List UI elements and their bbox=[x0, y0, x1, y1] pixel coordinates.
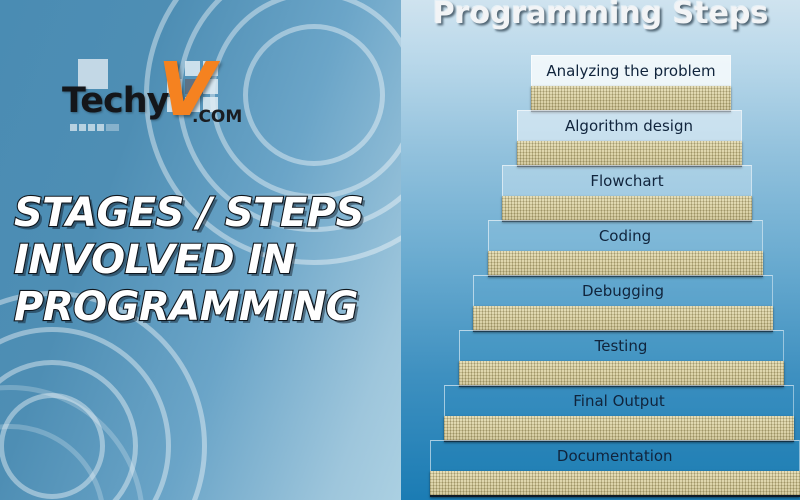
step-tread-7 bbox=[444, 416, 794, 442]
step-riser-6: Testing bbox=[459, 330, 784, 361]
step-tread-8 bbox=[430, 471, 800, 497]
step-riser-3: Flowchart bbox=[502, 165, 752, 196]
step-label-3: Flowchart bbox=[590, 172, 663, 190]
step-riser-1: Analyzing the problem bbox=[531, 55, 731, 86]
concentric-rings-icon-bottom-left-outer bbox=[0, 390, 140, 500]
logo-domain-suffix: .COM bbox=[192, 107, 242, 127]
logo-wordmark: Techy bbox=[62, 81, 168, 121]
step-label-8: Documentation bbox=[557, 447, 673, 465]
step-4[interactable]: Coding bbox=[488, 220, 763, 275]
step-riser-5: Debugging bbox=[473, 275, 773, 306]
step-riser-8: Documentation bbox=[430, 440, 800, 471]
dots-icon bbox=[70, 124, 119, 131]
page-title-line-3: PROGRAMMING bbox=[14, 284, 401, 331]
step-label-5: Debugging bbox=[582, 282, 664, 300]
step-label-7: Final Output bbox=[573, 392, 664, 410]
step-label-2: Algorithm design bbox=[565, 117, 693, 135]
step-riser-4: Coding bbox=[488, 220, 763, 251]
left-panel: Techy V .COM STAGES / STEPS INVOLVED IN … bbox=[0, 0, 401, 500]
step-tread-4 bbox=[488, 251, 763, 277]
poster-canvas: Techy V .COM STAGES / STEPS INVOLVED IN … bbox=[0, 0, 800, 500]
page-title-line-1: STAGES / STEPS bbox=[14, 190, 401, 237]
step-label-1: Analyzing the problem bbox=[546, 62, 715, 80]
step-1[interactable]: Analyzing the problem bbox=[531, 55, 731, 110]
techyv-logo[interactable]: Techy V .COM bbox=[62, 57, 237, 137]
step-tread-6 bbox=[459, 361, 784, 387]
step-8[interactable]: Documentation bbox=[430, 440, 800, 495]
step-label-4: Coding bbox=[599, 227, 651, 245]
step-2[interactable]: Algorithm design bbox=[517, 110, 742, 165]
page-title-line-2: INVOLVED IN bbox=[14, 237, 401, 284]
step-tread-3 bbox=[502, 196, 752, 222]
step-label-6: Testing bbox=[595, 337, 648, 355]
step-riser-7: Final Output bbox=[444, 385, 794, 416]
staircase-diagram: Analyzing the problemAlgorithm designFlo… bbox=[401, 0, 800, 500]
step-tread-5 bbox=[473, 306, 773, 332]
step-6[interactable]: Testing bbox=[459, 330, 784, 385]
step-riser-2: Algorithm design bbox=[517, 110, 742, 141]
step-tread-1 bbox=[531, 86, 731, 112]
step-5[interactable]: Debugging bbox=[473, 275, 773, 330]
page-title: STAGES / STEPS INVOLVED IN PROGRAMMING bbox=[14, 190, 401, 331]
step-7[interactable]: Final Output bbox=[444, 385, 794, 440]
step-3[interactable]: Flowchart bbox=[502, 165, 752, 220]
step-tread-2 bbox=[517, 141, 742, 167]
right-panel: Programming Steps Analyzing the problemA… bbox=[401, 0, 800, 500]
